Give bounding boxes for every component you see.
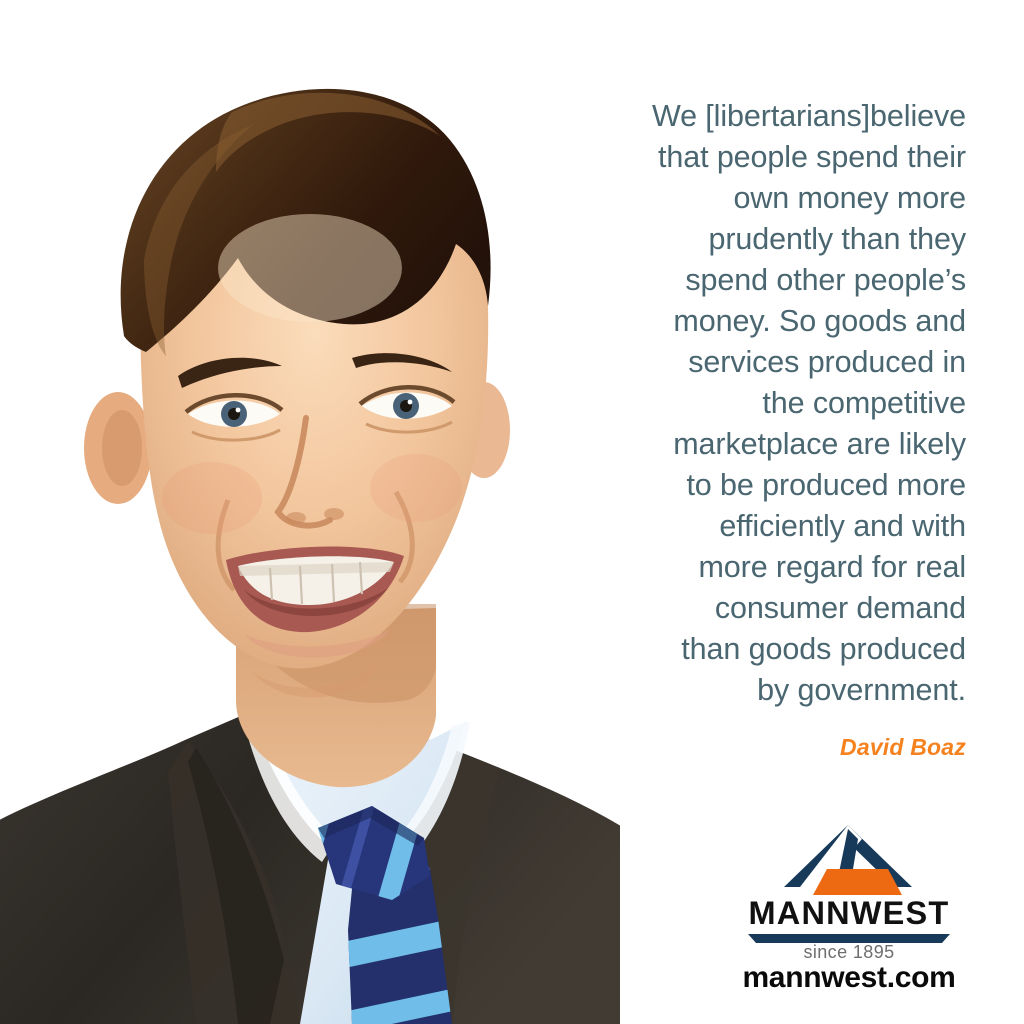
quote-line: own money more bbox=[560, 178, 966, 219]
portrait-illustration bbox=[0, 0, 620, 1024]
mannwest-logo[interactable]: MANNWEST since 1895 mannwest.com bbox=[722, 820, 976, 995]
quote-line: efficiently and with bbox=[560, 506, 966, 547]
mannwest-underline-bar bbox=[748, 930, 950, 939]
quote-line: than goods produced bbox=[560, 629, 966, 670]
quote-line: money. So goods and bbox=[560, 301, 966, 342]
quote-line: that people spend their bbox=[560, 137, 966, 178]
quote-graphic-canvas: We [libertarians]believe that people spe… bbox=[0, 0, 1024, 1024]
quote-line: marketplace are likely bbox=[560, 424, 966, 465]
quote-line: spend other people’s bbox=[560, 260, 966, 301]
website-url[interactable]: mannwest.com bbox=[722, 961, 976, 995]
since-tagline: since 1895 bbox=[722, 941, 976, 963]
quote-attribution: David Boaz bbox=[560, 734, 966, 761]
mannwest-mountain-icon bbox=[784, 825, 912, 897]
mannwest-wordmark: MANNWEST bbox=[722, 896, 976, 930]
quote-line: by government. bbox=[560, 670, 966, 711]
quote-text-block: We [libertarians]believe that people spe… bbox=[560, 96, 966, 711]
quote-line: consumer demand bbox=[560, 588, 966, 629]
quote-line: We [libertarians]believe bbox=[560, 96, 966, 137]
quote-line: services produced in bbox=[560, 342, 966, 383]
quote-line: prudently than they bbox=[560, 219, 966, 260]
quote-line: more regard for real bbox=[560, 547, 966, 588]
quote-line: the competitive bbox=[560, 383, 966, 424]
portrait-photo bbox=[0, 0, 620, 1024]
quote-line: to be produced more bbox=[560, 465, 966, 506]
